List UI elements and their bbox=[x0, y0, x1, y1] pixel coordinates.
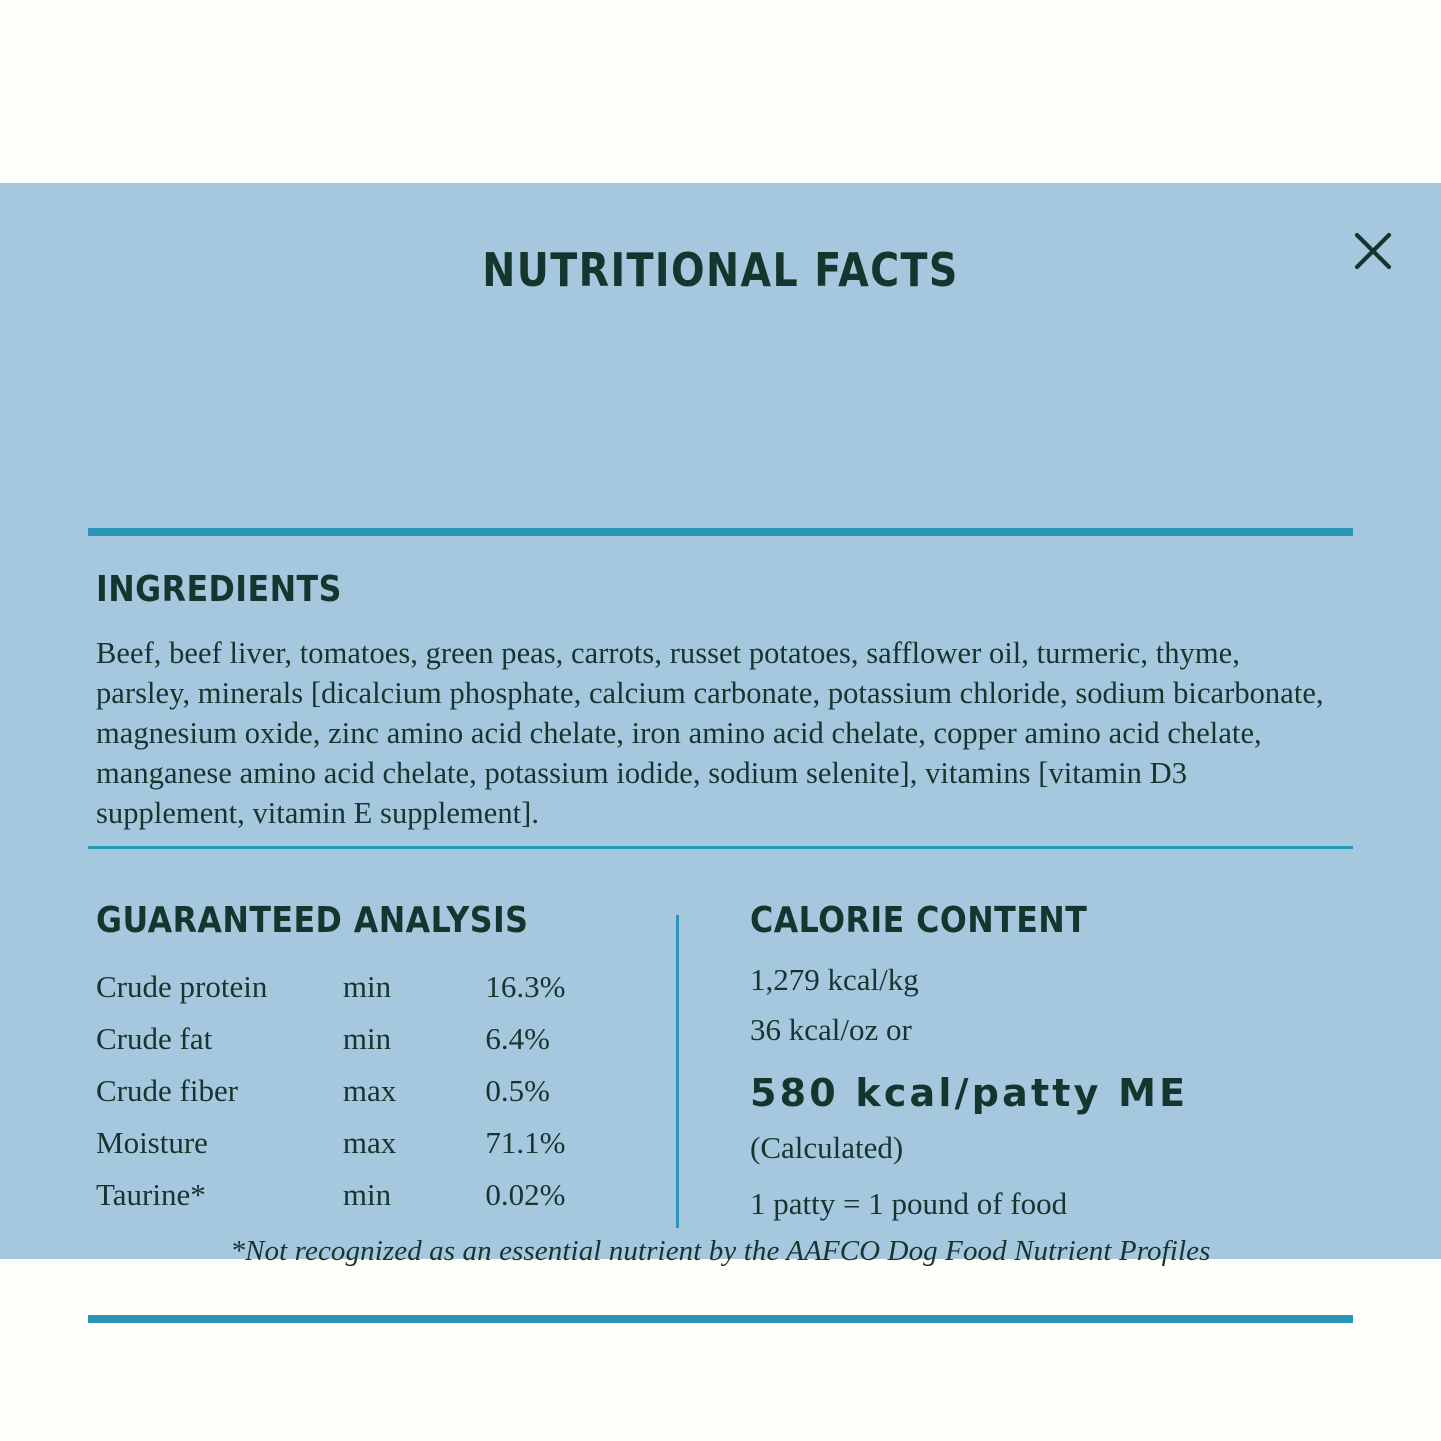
calories-per-oz: 36 kcal/oz or bbox=[750, 1005, 1350, 1055]
guaranteed-analysis-table: Crude protein min 16.3% Crude fat min 6.… bbox=[96, 961, 636, 1221]
screen: NUTRITIONAL FACTS INGREDIENTS Beef, beef… bbox=[0, 0, 1441, 1441]
nutrient-value: 0.5% bbox=[485, 1065, 636, 1117]
ingredients-heading: INGREDIENTS bbox=[96, 569, 342, 610]
ingredients-text: Beef, beef liver, tomatoes, green peas, … bbox=[96, 633, 1324, 833]
nutrient-name: Crude fiber bbox=[96, 1065, 343, 1117]
nutrient-basis: min bbox=[343, 961, 486, 1013]
calorie-content-column: 1,279 kcal/kg 36 kcal/oz or 580 kcal/pat… bbox=[750, 955, 1350, 1227]
close-button[interactable] bbox=[1350, 228, 1396, 274]
table-row: Moisture max 71.1% bbox=[96, 1117, 636, 1169]
footnote: *Not recognized as an essential nutrient… bbox=[0, 1235, 1441, 1268]
table-row: Crude fiber max 0.5% bbox=[96, 1065, 636, 1117]
calorie-content-heading: CALORIE CONTENT bbox=[750, 900, 1087, 941]
patty-equivalence: 1 patty = 1 pound of food bbox=[750, 1181, 1350, 1227]
nutrient-basis: max bbox=[343, 1065, 486, 1117]
guaranteed-analysis-heading: GUARANTEED ANALYSIS bbox=[96, 900, 528, 941]
nutrient-value: 71.1% bbox=[485, 1117, 636, 1169]
nutrient-basis: min bbox=[343, 1169, 486, 1221]
calories-per-patty: 580 kcal/patty ME bbox=[750, 1061, 1350, 1125]
divider-middle bbox=[88, 846, 1353, 849]
nutrient-basis: max bbox=[343, 1117, 486, 1169]
nutrient-value: 0.02% bbox=[485, 1169, 636, 1221]
nutrient-name: Moisture bbox=[96, 1117, 343, 1169]
calories-per-kg: 1,279 kcal/kg bbox=[750, 955, 1350, 1005]
table-row: Taurine* min 0.02% bbox=[96, 1169, 636, 1221]
nutrient-basis: min bbox=[343, 1013, 486, 1065]
nutritional-facts-modal: NUTRITIONAL FACTS INGREDIENTS Beef, beef… bbox=[0, 183, 1441, 1259]
modal-inner: NUTRITIONAL FACTS INGREDIENTS Beef, beef… bbox=[0, 183, 1441, 1259]
table-row: Crude fat min 6.4% bbox=[96, 1013, 636, 1065]
nutrient-value: 6.4% bbox=[485, 1013, 636, 1065]
nutrient-name: Crude protein bbox=[96, 961, 343, 1013]
nutrient-value: 16.3% bbox=[485, 961, 636, 1013]
calculated-note: (Calculated) bbox=[750, 1125, 1350, 1171]
page-title: NUTRITIONAL FACTS bbox=[101, 243, 1340, 297]
divider-vertical bbox=[676, 915, 679, 1228]
divider-bottom bbox=[88, 1315, 1353, 1323]
divider-top bbox=[88, 528, 1353, 536]
close-icon bbox=[1353, 231, 1393, 271]
table-row: Crude protein min 16.3% bbox=[96, 961, 636, 1013]
nutrient-name: Crude fat bbox=[96, 1013, 343, 1065]
nutrient-name: Taurine* bbox=[96, 1169, 343, 1221]
